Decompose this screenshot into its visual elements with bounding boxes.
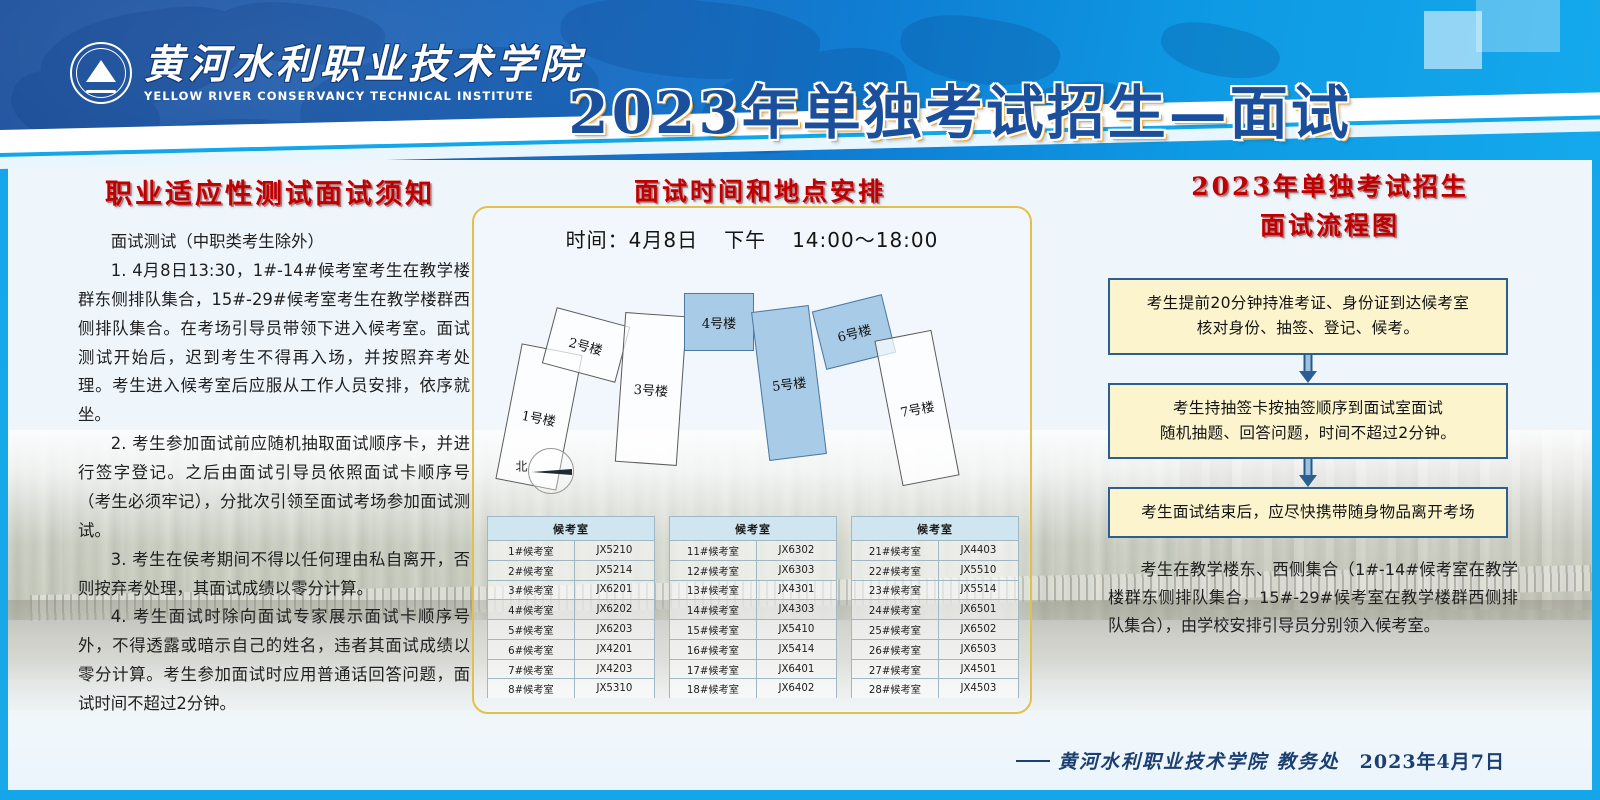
table-row: 11#候考室JX6302 (670, 541, 837, 561)
room-code-cell: JX5514 (938, 580, 1018, 600)
waiting-room-table-1: 候考室1#候考室JX52102#候考室JX52143#候考室JX62014#候考… (487, 516, 655, 698)
flow-arrow-2 (1108, 459, 1508, 487)
flow-step-1: 考生提前20分钟持准考证、身份证到达候考室核对身份、抽签、登记、候考。 (1108, 278, 1508, 355)
table-1: 候考室1#候考室JX52102#候考室JX52143#候考室JX62014#候考… (487, 516, 655, 698)
room-code-cell: JX4503 (938, 679, 1018, 698)
compass-north-label: 北 (513, 460, 530, 472)
compass-icon: 北 (528, 448, 574, 494)
table-row: 27#候考室JX4501 (852, 659, 1019, 679)
interview-flowchart: 考生提前20分钟持准考证、身份证到达候考室核对身份、抽签、登记、候考。 考生持抽… (1108, 278, 1508, 538)
edge-bar-left (0, 150, 8, 800)
table-row: 22#候考室JX5510 (852, 560, 1019, 580)
room-code-cell: JX6501 (938, 600, 1018, 620)
footer-date: 2023年4月7日 (1360, 747, 1505, 774)
room-name-cell: 12#候考室 (670, 560, 757, 580)
logo-english-name: YELLOW RIVER CONSERVANCY TECHNICAL INSTI… (144, 89, 584, 103)
header-square-decoration-b (1424, 11, 1482, 69)
table-row: 21#候考室JX4403 (852, 541, 1019, 561)
table-2: 候考室11#候考室JX630212#候考室JX630313#候考室JX43011… (669, 516, 837, 698)
table-row: 12#候考室JX6303 (670, 560, 837, 580)
room-name-cell: 26#候考室 (852, 639, 939, 659)
room-code-cell: JX6502 (938, 620, 1018, 640)
left-item-1: 1. 4月8日13:30，1#-14#候考室考生在教学楼群东侧排队集合，15#-… (78, 257, 470, 430)
footer-org: 黄河水利职业技术学院 教务处 (1058, 747, 1340, 774)
table-row: 5#候考室JX6203 (488, 620, 655, 640)
room-name-cell: 17#候考室 (670, 659, 757, 679)
footer-signature: 黄河水利职业技术学院 教务处 2023年4月7日 (1016, 747, 1505, 774)
room-code-cell: JX4303 (756, 600, 836, 620)
time-label: 时间：4月8日 (566, 228, 698, 252)
room-code-cell: JX5310 (574, 679, 654, 698)
waiting-room-table-2: 候考室11#候考室JX630212#候考室JX630313#候考室JX43011… (669, 516, 837, 698)
institute-logo: 黄河水利职业技术学院 YELLOW RIVER CONSERVANCY TECH… (70, 42, 584, 104)
time-period: 下午 (724, 228, 766, 252)
table-header-cell: 候考室 (488, 517, 655, 541)
table-row: 4#候考室JX6202 (488, 600, 655, 620)
time-range: 14:00～18:00 (792, 228, 938, 252)
room-name-cell: 5#候考室 (488, 620, 575, 640)
edge-bar-right (1592, 150, 1600, 800)
right-note-paragraph: 考生在教学楼东、西侧集合（1#-14#候考室在教学楼群东侧排队集合，15#-29… (1108, 556, 1518, 641)
logo-text-block: 黄河水利职业技术学院 YELLOW RIVER CONSERVANCY TECH… (144, 43, 584, 102)
room-code-cell: JX6302 (756, 541, 836, 561)
room-name-cell: 23#候考室 (852, 580, 939, 600)
room-name-cell: 27#候考室 (852, 659, 939, 679)
building-6-label: 6号楼 (835, 319, 873, 346)
building-4: 4号楼 (684, 293, 754, 351)
building-5-label: 5号楼 (771, 371, 807, 394)
campus-building-map: 1号楼 2号楼 3号楼 4号楼 5号楼 6号楼 7号楼 北 (490, 276, 1020, 516)
room-code-cell: JX4201 (574, 639, 654, 659)
logo-seal-icon (70, 42, 132, 104)
room-code-cell: JX6303 (756, 560, 836, 580)
table-row: 7#候考室JX4203 (488, 659, 655, 679)
room-name-cell: 21#候考室 (852, 541, 939, 561)
right-note-text: 考生在教学楼东、西侧集合（1#-14#候考室在教学楼群东侧排队集合，15#-29… (1108, 556, 1518, 641)
table-row: 18#候考室JX6402 (670, 679, 837, 698)
poster-root: 黄河水利职业技术学院 YELLOW RIVER CONSERVANCY TECH… (0, 0, 1600, 800)
center-section-heading: 面试时间和地点安排 (560, 172, 960, 208)
table-row: 28#候考室JX4503 (852, 679, 1019, 698)
table-row: 15#候考室JX5410 (670, 620, 837, 640)
table-row: 25#候考室JX6502 (852, 620, 1019, 640)
room-code-cell: JX6401 (756, 659, 836, 679)
room-name-cell: 28#候考室 (852, 679, 939, 698)
room-name-cell: 13#候考室 (670, 580, 757, 600)
room-code-cell: JX6201 (574, 580, 654, 600)
right-heading-line2: 面试流程图 (1090, 207, 1570, 246)
room-code-cell: JX4203 (574, 659, 654, 679)
room-code-cell: JX4301 (756, 580, 836, 600)
table-row: 14#候考室JX4303 (670, 600, 837, 620)
footer-dash (1016, 760, 1050, 762)
room-code-cell: JX4501 (938, 659, 1018, 679)
flow-step-3: 考生面试结束后，应尽快携带随身物品离开考场 (1108, 487, 1508, 538)
room-code-cell: JX6203 (574, 620, 654, 640)
room-name-cell: 6#候考室 (488, 639, 575, 659)
right-section-heading: 2023年单独考试招生 面试流程图 (1090, 168, 1570, 246)
left-item-3: 3. 考生在侯考期间不得以任何理由私自离开，否则按弃考处理，其面试成绩以零分计算… (78, 546, 470, 604)
table-row: 26#候考室JX6503 (852, 639, 1019, 659)
building-7: 7号楼 (874, 330, 959, 486)
waiting-room-tables: 候考室1#候考室JX52102#候考室JX52143#候考室JX62014#候考… (487, 516, 1023, 698)
table-row: 2#候考室JX5214 (488, 560, 655, 580)
room-name-cell: 25#候考室 (852, 620, 939, 640)
room-name-cell: 7#候考室 (488, 659, 575, 679)
table-3: 候考室21#候考室JX440322#候考室JX551023#候考室JX55142… (851, 516, 1019, 698)
building-4-label: 4号楼 (702, 313, 736, 332)
page-title: 2023年单独考试招生—面试 (520, 66, 1400, 150)
table-header-row: 候考室 (488, 517, 655, 541)
room-code-cell: JX6202 (574, 600, 654, 620)
left-lead-text: 面试测试（中职类考生除外） (78, 228, 470, 257)
building-3-label: 3号楼 (633, 378, 669, 399)
room-name-cell: 4#候考室 (488, 600, 575, 620)
table-row: 23#候考室JX5514 (852, 580, 1019, 600)
building-7-label: 7号楼 (898, 395, 935, 420)
header-square-decoration-a (1476, 0, 1560, 52)
room-name-cell: 11#候考室 (670, 541, 757, 561)
room-name-cell: 15#候考室 (670, 620, 757, 640)
room-code-cell: JX6503 (938, 639, 1018, 659)
building-3: 3号楼 (615, 312, 687, 466)
compass-needle (530, 469, 572, 475)
room-code-cell: JX5214 (574, 560, 654, 580)
table-header-cell: 候考室 (670, 517, 837, 541)
left-item-4: 4. 考生面试时除向面试专家展示面试卡顺序号外，不得透露或暗示自己的姓名，违者其… (78, 603, 470, 719)
flow-step-2: 考生持抽签卡按抽签顺序到面试室面试随机抽题、回答问题，时间不超过2分钟。 (1108, 383, 1508, 460)
table-row: 1#候考室JX5210 (488, 541, 655, 561)
room-code-cell: JX5210 (574, 541, 654, 561)
waiting-room-table-3: 候考室21#候考室JX440322#候考室JX551023#候考室JX55142… (851, 516, 1019, 698)
flow-arrow-1 (1108, 355, 1508, 383)
table-header-row: 候考室 (852, 517, 1019, 541)
building-1-label: 1号楼 (520, 404, 557, 429)
room-name-cell: 1#候考室 (488, 541, 575, 561)
room-code-cell: JX6402 (756, 679, 836, 698)
table-row: 24#候考室JX6501 (852, 600, 1019, 620)
room-name-cell: 14#候考室 (670, 600, 757, 620)
table-row: 3#候考室JX6201 (488, 580, 655, 600)
table-row: 6#候考室JX4201 (488, 639, 655, 659)
table-row: 8#候考室JX5310 (488, 679, 655, 698)
room-name-cell: 2#候考室 (488, 560, 575, 580)
room-code-cell: JX5410 (756, 620, 836, 640)
logo-chinese-name: 黄河水利职业技术学院 (144, 43, 584, 86)
room-code-cell: JX5414 (756, 639, 836, 659)
room-name-cell: 8#候考室 (488, 679, 575, 698)
right-heading-line1: 2023年单独考试招生 (1090, 168, 1570, 207)
table-row: 13#候考室JX4301 (670, 580, 837, 600)
table-header-cell: 候考室 (852, 517, 1019, 541)
table-row: 17#候考室JX6401 (670, 659, 837, 679)
interview-time-line: 时间：4月8日下午14:00～18:00 (472, 224, 1032, 253)
edge-bar-bottom (0, 790, 1600, 800)
room-name-cell: 22#候考室 (852, 560, 939, 580)
building-2-label: 2号楼 (567, 331, 605, 358)
room-code-cell: JX5510 (938, 560, 1018, 580)
table-row: 16#候考室JX5414 (670, 639, 837, 659)
left-body-text: 面试测试（中职类考生除外） 1. 4月8日13:30，1#-14#候考室考生在教… (78, 228, 470, 719)
left-section-heading: 职业适应性测试面试须知 (60, 172, 480, 211)
room-name-cell: 16#候考室 (670, 639, 757, 659)
left-item-2: 2. 考生参加面试前应随机抽取面试顺序卡，并进行签字登记。之后由面试引导员依照面… (78, 430, 470, 546)
room-name-cell: 18#候考室 (670, 679, 757, 698)
room-name-cell: 3#候考室 (488, 580, 575, 600)
room-name-cell: 24#候考室 (852, 600, 939, 620)
room-code-cell: JX4403 (938, 541, 1018, 561)
table-header-row: 候考室 (670, 517, 837, 541)
